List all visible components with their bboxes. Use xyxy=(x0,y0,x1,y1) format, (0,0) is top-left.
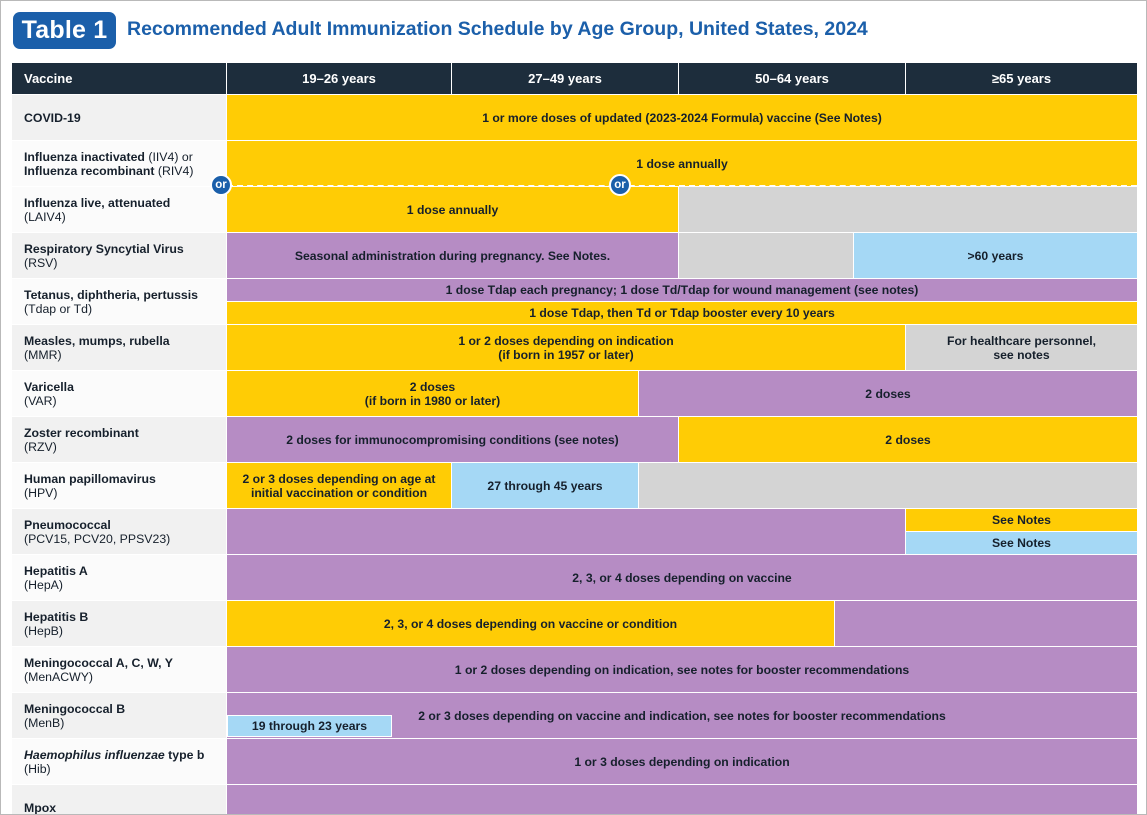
vaccine-label-influenza-laiv: Influenza live, attenuated (LAIV4) xyxy=(12,187,226,232)
vaccine-name: Mpox xyxy=(24,801,216,815)
vaccine-name: Meningococcal A, C, W, Y xyxy=(24,656,216,670)
schedule-cell-mmr-19-64: 1 or 2 doses depending on indication (if… xyxy=(227,325,905,370)
vaccine-abbrev: (RZV) xyxy=(24,440,216,454)
vaccine-name: Hepatitis B xyxy=(24,610,216,624)
vaccine-label-hepatitis-a: Hepatitis A (HepA) xyxy=(12,555,226,600)
schedule-cell-pneumococcal-65plus-bottom: See Notes xyxy=(906,532,1137,554)
schedule-cell-tdap-pregnancy: 1 dose Tdap each pregnancy; 1 dose Td/Td… xyxy=(227,279,1137,301)
vaccine-name: Pneumococcal xyxy=(24,518,216,532)
vaccine-name: Meningococcal B xyxy=(24,702,216,716)
schedule-cell-hepatitis-b-19-59: 2, 3, or 4 doses depending on vaccine or… xyxy=(227,601,834,646)
vaccine-name-line1: Influenza inactivated (IIV4) or xyxy=(24,150,216,164)
vaccine-abbrev: (HepB) xyxy=(24,624,216,638)
vaccine-abbrev: (HPV) xyxy=(24,486,216,500)
vaccine-label-hpv: Human papillomavirus (HPV) xyxy=(12,463,226,508)
vaccine-name: Influenza live, attenuated xyxy=(24,196,216,210)
vaccine-abbrev: (MMR) xyxy=(24,348,216,362)
vaccine-name-line2: Influenza recombinant (RIV4) xyxy=(24,164,216,178)
title-bar: Table 1 Recommended Adult Immunization S… xyxy=(1,1,1147,61)
schedule-cell-rsv-50-59 xyxy=(679,233,853,278)
schedule-cell-pneumococcal-65plus-top: See Notes xyxy=(906,509,1137,531)
schedule-cell-rsv-60plus: >60 years xyxy=(854,233,1137,278)
vaccine-name: Varicella xyxy=(24,380,216,394)
vaccine-label-mpox: Mpox xyxy=(12,785,226,815)
schedule-cell-rsv-19-49: Seasonal administration during pregnancy… xyxy=(227,233,678,278)
vaccine-label-influenza-inactivated: Influenza inactivated (IIV4) or Influenz… xyxy=(12,141,226,186)
schedule-cell-influenza-inactivated-all: 1 dose annually xyxy=(227,141,1137,186)
vaccine-label-tdap: Tetanus, diphtheria, pertussis (Tdap or … xyxy=(12,279,226,324)
vaccine-abbrev: (RSV) xyxy=(24,256,216,270)
vaccine-abbrev: (PCV15, PCV20, PPSV23) xyxy=(24,532,216,546)
column-header-vaccine: Vaccine xyxy=(12,63,226,94)
vaccine-label-mmr: Measles, mumps, rubella (MMR) xyxy=(12,325,226,370)
vaccine-name: Zoster recombinant xyxy=(24,426,216,440)
column-header-50-64: 50–64 years xyxy=(679,63,905,94)
schedule-cell-influenza-laiv-19-49: 1 dose annually xyxy=(227,187,678,232)
table-number-badge: Table 1 xyxy=(13,12,116,49)
schedule-cell-hepatitis-a-all: 2, 3, or 4 doses depending on vaccine xyxy=(227,555,1137,600)
schedule-cell-hpv-rest xyxy=(639,463,1137,508)
vaccine-abbrev: (Tdap or Td) xyxy=(24,302,216,316)
schedule-cell-covid19-all: 1 or more doses of updated (2023-2024 Fo… xyxy=(227,95,1137,140)
schedule-cell-zoster-19-49: 2 doses for immunocompromising condition… xyxy=(227,417,678,462)
vaccine-name: Tetanus, diphtheria, pertussis xyxy=(24,288,216,302)
column-header-27-49: 27–49 years xyxy=(452,63,678,94)
or-badge-middle: or xyxy=(609,174,631,196)
vaccine-name: Respiratory Syncytial Virus xyxy=(24,242,216,256)
or-badge-left: or xyxy=(210,174,232,196)
vaccine-name: Human papillomavirus xyxy=(24,472,216,486)
vaccine-abbrev: (VAR) xyxy=(24,394,216,408)
column-header-65plus: ≥65 years xyxy=(906,63,1137,94)
vaccine-label-menacwy: Meningococcal A, C, W, Y (MenACWY) xyxy=(12,647,226,692)
table-page: Table 1 Recommended Adult Immunization S… xyxy=(0,0,1147,815)
schedule-cell-mmr-65plus: For healthcare personnel, see notes xyxy=(906,325,1137,370)
schedule-cell-hib-all: 1 or 3 doses depending on indication xyxy=(227,739,1137,784)
schedule-cell-pneumococcal-19-64 xyxy=(227,509,905,554)
vaccine-label-varicella: Varicella (VAR) xyxy=(12,371,226,416)
schedule-cell-hpv-27-45: 27 through 45 years xyxy=(452,463,638,508)
schedule-cell-tdap-booster: 1 dose Tdap, then Td or Tdap booster eve… xyxy=(227,302,1137,324)
schedule-cell-hpv-19-26: 2 or 3 doses depending on age at initial… xyxy=(227,463,451,508)
vaccine-label-menb: Meningococcal B (MenB) xyxy=(12,693,226,738)
vaccine-label-pneumococcal: Pneumococcal (PCV15, PCV20, PPSV23) xyxy=(12,509,226,554)
vaccine-abbrev: (Hib) xyxy=(24,762,216,776)
vaccine-label-hib: Haemophilus influenzae type b (Hib) xyxy=(12,739,226,784)
vaccine-name: Hepatitis A xyxy=(24,564,216,578)
schedule-cell-varicella-rest: 2 doses xyxy=(639,371,1137,416)
schedule-cell-menacwy-all: 1 or 2 doses depending on indication, se… xyxy=(227,647,1137,692)
vaccine-name: Measles, mumps, rubella xyxy=(24,334,216,348)
vaccine-label-zoster: Zoster recombinant (RZV) xyxy=(12,417,226,462)
schedule-grid: Vaccine 19–26 years 27–49 years 50–64 ye… xyxy=(12,63,1137,805)
schedule-cell-mpox-all xyxy=(227,785,1137,815)
vaccine-name: COVID-19 xyxy=(24,111,216,125)
page-title: Recommended Adult Immunization Schedule … xyxy=(127,18,868,41)
schedule-cell-zoster-50plus: 2 doses xyxy=(679,417,1137,462)
schedule-cell-hepatitis-b-60plus xyxy=(835,601,1137,646)
vaccine-label-hepatitis-b: Hepatitis B (HepB) xyxy=(12,601,226,646)
vaccine-abbrev: (LAIV4) xyxy=(24,210,216,224)
vaccine-abbrev: (MenB) xyxy=(24,716,216,730)
vaccine-label-rsv: Respiratory Syncytial Virus (RSV) xyxy=(12,233,226,278)
vaccine-abbrev: (MenACWY) xyxy=(24,670,216,684)
schedule-cell-influenza-laiv-50plus xyxy=(679,187,1137,232)
schedule-cell-varicella-19-45: 2 doses (if born in 1980 or later) xyxy=(227,371,638,416)
vaccine-abbrev: (HepA) xyxy=(24,578,216,592)
column-header-19-26: 19–26 years xyxy=(227,63,451,94)
schedule-cell-menb-19-23: 19 through 23 years xyxy=(227,715,392,737)
vaccine-name: Haemophilus influenzae type b xyxy=(24,748,216,762)
vaccine-label-covid19: COVID-19 xyxy=(12,95,226,140)
